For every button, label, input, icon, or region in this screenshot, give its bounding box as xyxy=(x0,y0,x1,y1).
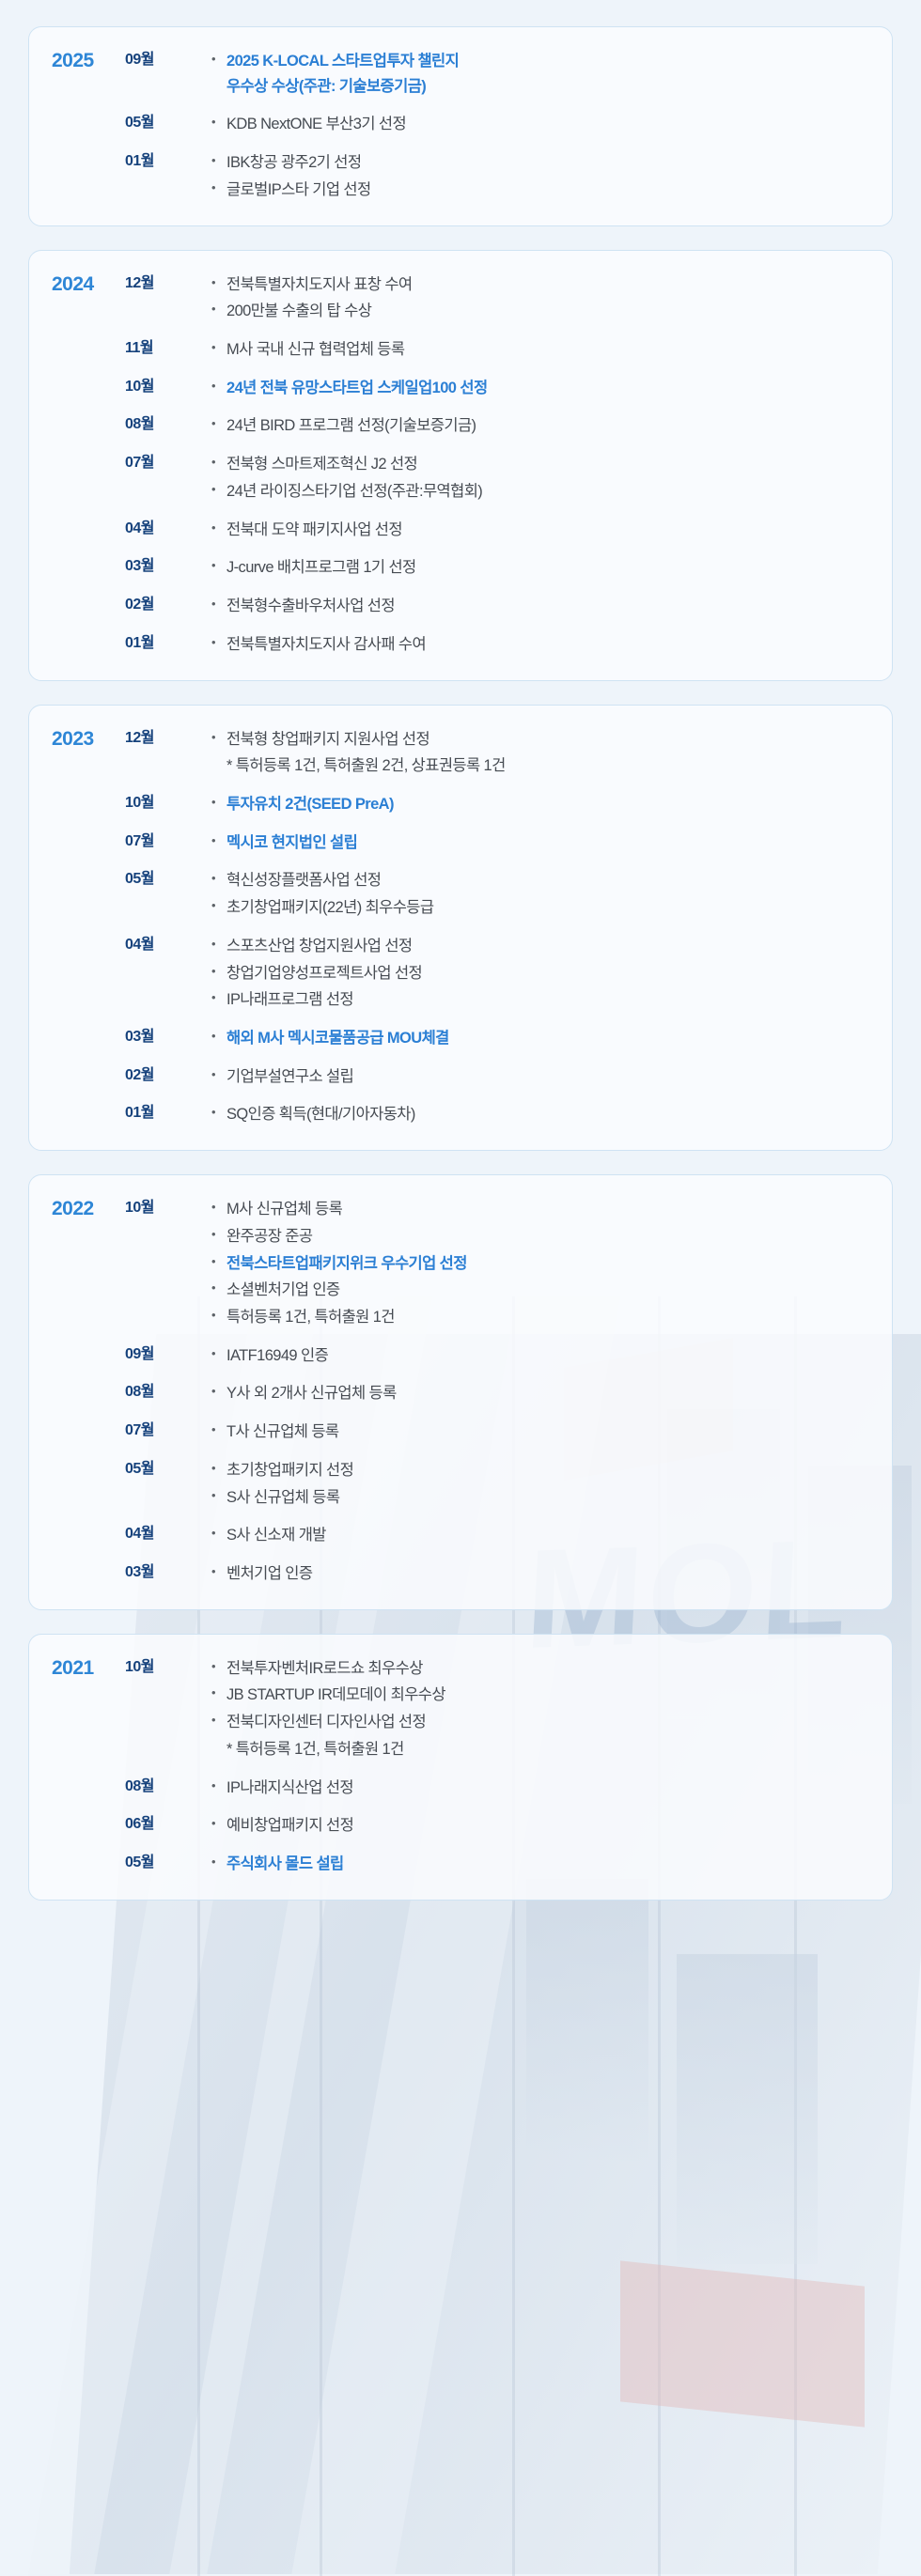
event-list: •M사 국내 신규 협력업체 등록 xyxy=(211,336,869,363)
month-row: 04월•스포츠산업 창업지원사업 선정•창업기업양성프로젝트사업 선정•IP나래… xyxy=(125,933,869,1013)
bullet-icon: • xyxy=(211,1026,226,1046)
event-list: •전북특별자치도지사 감사패 수여 xyxy=(211,631,869,658)
month-row: 02월•기업부설연구소 설립 xyxy=(125,1063,869,1090)
month-label: 12월 xyxy=(125,726,211,751)
bullet-icon: • xyxy=(211,1251,226,1271)
year-card: 202412월•전북특별자치도지사 표창 수여•200만불 수출의 탑 수상11… xyxy=(28,250,893,681)
year-card: 202210월•M사 신규업체 등록•완주공장 준공•전북스타트업패키지위크 우… xyxy=(28,1174,893,1610)
month-row: 12월•전북특별자치도지사 표창 수여•200만불 수출의 탑 수상 xyxy=(125,272,869,324)
event-list: •전북대 도약 패키지사업 선정 xyxy=(211,517,869,543)
month-label: 03월 xyxy=(125,1560,211,1585)
event-text: T사 신규업체 등록 xyxy=(226,1420,869,1445)
month-label: 09월 xyxy=(125,48,211,72)
bullet-icon: • xyxy=(211,632,226,652)
month-label: 09월 xyxy=(125,1342,211,1367)
year-label: 2023 xyxy=(52,726,125,752)
month-list: 10월•M사 신규업체 등록•완주공장 준공•전북스타트업패키지위크 우수기업 … xyxy=(125,1196,869,1587)
bullet-icon: • xyxy=(211,1305,226,1325)
event-text: 해외 M사 멕시코물품공급 MOU체결 xyxy=(226,1026,869,1051)
bullet-icon: • xyxy=(211,1523,226,1543)
bullet-icon: • xyxy=(211,452,226,472)
month-label: 10월 xyxy=(125,791,211,815)
bullet-icon: • xyxy=(211,895,226,915)
event-list: •멕시코 현지법인 설립 xyxy=(211,830,869,856)
event-text: 벤처기업 인증 xyxy=(226,1561,869,1587)
event-text: * 특허등록 1건, 특허출원 2건, 상표권등록 1건 xyxy=(226,753,869,779)
year-card: 202509월•2025 K-LOCAL 스타트업투자 챌린지 우수상 수상(주… xyxy=(28,26,893,226)
month-row: 01월•IBK창공 광주2기 선정•글로벌IP스타 기업 선정 xyxy=(125,149,869,202)
bullet-icon: • xyxy=(211,479,226,499)
event-text: 전북형 스마트제조혁신 J2 선정 xyxy=(226,452,869,477)
event-item: •전북특별자치도지사 표창 수여 xyxy=(211,272,869,298)
month-label: 03월 xyxy=(125,1025,211,1049)
event-item-highlighted: •투자유치 2건(SEED PreA) xyxy=(211,792,869,817)
event-text: 혁신성장플랫폼사업 선정 xyxy=(226,868,869,893)
event-list: •SQ인증 획득(현대/기아자동차) xyxy=(211,1101,869,1127)
bullet-icon: • xyxy=(211,792,226,812)
company-history-timeline: 202509월•2025 K-LOCAL 스타트업투자 챌린지 우수상 수상(주… xyxy=(0,0,921,1952)
event-text: 예비창업패키지 선정 xyxy=(226,1813,869,1839)
event-text: 멕시코 현지법인 설립 xyxy=(226,830,869,856)
event-item-highlighted: •24년 전북 유망스타트업 스케일업100 선정 xyxy=(211,376,869,401)
event-list: •2025 K-LOCAL 스타트업투자 챌린지 우수상 수상(주관: 기술보증… xyxy=(211,48,869,99)
event-text: 창업기업양성프로젝트사업 선정 xyxy=(226,961,869,986)
bullet-icon: • xyxy=(211,1485,226,1505)
year-card: 202312월•전북형 창업패키지 지원사업 선정•* 특허등록 1건, 특허출… xyxy=(28,705,893,1152)
event-list: •주식회사 몰드 설립 xyxy=(211,1851,869,1877)
bullet-icon: • xyxy=(211,1813,226,1833)
event-text: IP나래지식산업 선정 xyxy=(226,1776,869,1801)
year-label: 2024 xyxy=(52,272,125,297)
event-item: •S사 신규업체 등록 xyxy=(211,1485,869,1511)
bullet-icon: • xyxy=(211,518,226,537)
month-row: 05월•KDB NextONE 부산3기 선정 xyxy=(125,111,869,137)
bullet-icon: • xyxy=(211,150,226,170)
month-label: 04월 xyxy=(125,933,211,957)
month-row: 06월•예비창업패키지 선정 xyxy=(125,1812,869,1839)
bullet-icon: • xyxy=(211,1458,226,1478)
event-list: •IATF16949 인증 xyxy=(211,1342,869,1369)
bullet-icon: • xyxy=(211,961,226,981)
event-item: •창업기업양성프로젝트사업 선정 xyxy=(211,961,869,986)
event-text: Y사 외 2개사 신규업체 등록 xyxy=(226,1381,869,1406)
month-label: 03월 xyxy=(125,554,211,579)
event-item: •IBK창공 광주2기 선정 xyxy=(211,150,869,176)
bullet-icon: • xyxy=(211,555,226,575)
event-text: 전북형수출바우처사업 선정 xyxy=(226,594,869,619)
month-row: 05월•혁신성장플랫폼사업 선정•초기창업패키지(22년) 최우수등급 xyxy=(125,867,869,920)
month-label: 11월 xyxy=(125,336,211,361)
month-row: 07월•T사 신규업체 등록 xyxy=(125,1419,869,1445)
event-list: •초기창업패키지 선정•S사 신규업체 등록 xyxy=(211,1457,869,1510)
year-label: 2022 xyxy=(52,1196,125,1221)
bullet-icon: • xyxy=(211,112,226,132)
month-label: 10월 xyxy=(125,375,211,399)
event-item-highlighted: •2025 K-LOCAL 스타트업투자 챌린지 우수상 수상(주관: 기술보증… xyxy=(211,49,869,99)
event-item: •전북형 스마트제조혁신 J2 선정 xyxy=(211,452,869,477)
month-row: 05월•초기창업패키지 선정•S사 신규업체 등록 xyxy=(125,1457,869,1510)
event-item: •완주공장 준공 xyxy=(211,1224,869,1249)
event-list: •전북형 스마트제조혁신 J2 선정•24년 라이징스타기업 선정(주관:무역협… xyxy=(211,451,869,504)
event-text: IBK창공 광주2기 선정 xyxy=(226,150,869,176)
month-label: 04월 xyxy=(125,517,211,541)
bullet-icon: • xyxy=(211,1776,226,1795)
bullet-icon: • xyxy=(211,830,226,850)
month-label: 08월 xyxy=(125,1775,211,1799)
bullet-icon: • xyxy=(211,987,226,1007)
event-list: •투자유치 2건(SEED PreA) xyxy=(211,791,869,817)
event-text: M사 신규업체 등록 xyxy=(226,1197,869,1222)
bullet-icon: • xyxy=(211,727,226,747)
month-row: 04월•S사 신소재 개발 xyxy=(125,1522,869,1548)
month-row: 10월•M사 신규업체 등록•완주공장 준공•전북스타트업패키지위크 우수기업 … xyxy=(125,1196,869,1330)
event-text: 완주공장 준공 xyxy=(226,1224,869,1249)
event-text: 전북투자벤처IR로드쇼 최우수상 xyxy=(226,1656,869,1682)
event-list: •전북형수출바우처사업 선정 xyxy=(211,593,869,619)
event-note: •* 특허등록 1건, 특허출원 1건 xyxy=(211,1737,869,1762)
month-label: 04월 xyxy=(125,1522,211,1546)
month-label: 07월 xyxy=(125,830,211,854)
event-text: 투자유치 2건(SEED PreA) xyxy=(226,792,869,817)
event-item: •초기창업패키지(22년) 최우수등급 xyxy=(211,895,869,921)
event-text: * 특허등록 1건, 특허출원 1건 xyxy=(226,1737,869,1762)
event-item: •특허등록 1건, 특허출원 1건 xyxy=(211,1305,869,1330)
month-label: 01월 xyxy=(125,631,211,656)
event-text: M사 국내 신규 협력업체 등록 xyxy=(226,337,869,363)
event-text: 2025 K-LOCAL 스타트업투자 챌린지 우수상 수상(주관: 기술보증기… xyxy=(226,49,869,99)
event-item: •200만불 수출의 탑 수상 xyxy=(211,299,869,324)
event-text: JB STARTUP IR데모데이 최우수상 xyxy=(226,1683,869,1708)
event-item-highlighted: •멕시코 현지법인 설립 xyxy=(211,830,869,856)
event-note: •* 특허등록 1건, 특허출원 2건, 상표권등록 1건 xyxy=(211,753,869,779)
month-label: 12월 xyxy=(125,272,211,296)
event-item: •스포츠산업 창업지원사업 선정 xyxy=(211,934,869,959)
event-text: 200만불 수출의 탑 수상 xyxy=(226,299,869,324)
event-item: •IP나래프로그램 선정 xyxy=(211,987,869,1013)
month-row: 01월•전북특별자치도지사 감사패 수여 xyxy=(125,631,869,658)
event-item: •벤처기업 인증 xyxy=(211,1561,869,1587)
event-item: •기업부설연구소 설립 xyxy=(211,1064,869,1090)
bullet-icon: • xyxy=(211,299,226,318)
month-row: 10월•24년 전북 유망스타트업 스케일업100 선정 xyxy=(125,375,869,401)
month-row: 08월•Y사 외 2개사 신규업체 등록 xyxy=(125,1380,869,1406)
month-label: 08월 xyxy=(125,1380,211,1404)
month-label: 05월 xyxy=(125,111,211,135)
month-label: 07월 xyxy=(125,1419,211,1443)
month-row: 09월•IATF16949 인증 xyxy=(125,1342,869,1369)
bullet-icon: • xyxy=(211,1420,226,1439)
bullet-icon: • xyxy=(211,1561,226,1581)
event-list: •S사 신소재 개발 xyxy=(211,1522,869,1548)
month-row: 07월•전북형 스마트제조혁신 J2 선정•24년 라이징스타기업 선정(주관:… xyxy=(125,451,869,504)
event-item: •글로벌IP스타 기업 선정 xyxy=(211,178,869,203)
month-label: 07월 xyxy=(125,451,211,475)
event-item: •J-curve 배치프로그램 1기 선정 xyxy=(211,555,869,581)
month-label: 05월 xyxy=(125,1851,211,1875)
event-text: J-curve 배치프로그램 1기 선정 xyxy=(226,555,869,581)
month-list: 12월•전북형 창업패키지 지원사업 선정•* 특허등록 1건, 특허출원 2건… xyxy=(125,726,869,1128)
bullet-icon: • xyxy=(211,1064,226,1084)
event-item: •KDB NextONE 부산3기 선정 xyxy=(211,112,869,137)
event-item-highlighted: •해외 M사 멕시코물품공급 MOU체결 xyxy=(211,1026,869,1051)
event-item: •S사 신소재 개발 xyxy=(211,1523,869,1548)
event-list: •J-curve 배치프로그램 1기 선정 xyxy=(211,554,869,581)
month-label: 05월 xyxy=(125,867,211,892)
bullet-icon: • xyxy=(211,1278,226,1297)
bullet-icon: • xyxy=(211,868,226,888)
event-text: IP나래프로그램 선정 xyxy=(226,987,869,1013)
event-item: •전북특별자치도지사 감사패 수여 xyxy=(211,632,869,658)
bullet-icon: • xyxy=(211,934,226,954)
year-label: 2021 xyxy=(52,1655,125,1681)
bullet-icon: • xyxy=(211,1381,226,1401)
event-text: 24년 전북 유망스타트업 스케일업100 선정 xyxy=(226,376,869,401)
month-list: 12월•전북특별자치도지사 표창 수여•200만불 수출의 탑 수상11월•M사… xyxy=(125,272,869,658)
event-list: •혁신성장플랫폼사업 선정•초기창업패키지(22년) 최우수등급 xyxy=(211,867,869,920)
month-label: 01월 xyxy=(125,149,211,174)
event-item-highlighted: •전북스타트업패키지위크 우수기업 선정 xyxy=(211,1251,869,1277)
bullet-icon: • xyxy=(211,376,226,396)
bullet-icon: • xyxy=(211,413,226,433)
event-list: •24년 전북 유망스타트업 스케일업100 선정 xyxy=(211,375,869,401)
month-row: 03월•J-curve 배치프로그램 1기 선정 xyxy=(125,554,869,581)
event-item-highlighted: •주식회사 몰드 설립 xyxy=(211,1852,869,1877)
event-list: •기업부설연구소 설립 xyxy=(211,1063,869,1090)
event-list: •전북특별자치도지사 표창 수여•200만불 수출의 탑 수상 xyxy=(211,272,869,324)
month-label: 02월 xyxy=(125,593,211,617)
month-row: 08월•24년 BIRD 프로그램 선정(기술보증기금) xyxy=(125,412,869,439)
event-list: •IP나래지식산업 선정 xyxy=(211,1775,869,1801)
event-text: 전북특별자치도지사 감사패 수여 xyxy=(226,632,869,658)
event-text: KDB NextONE 부산3기 선정 xyxy=(226,112,869,137)
event-list: •스포츠산업 창업지원사업 선정•창업기업양성프로젝트사업 선정•IP나래프로그… xyxy=(211,933,869,1013)
month-row: 04월•전북대 도약 패키지사업 선정 xyxy=(125,517,869,543)
bullet-icon: • xyxy=(211,1656,226,1676)
month-list: 10월•전북투자벤처IR로드쇼 최우수상•JB STARTUP IR데모데이 최… xyxy=(125,1655,869,1877)
month-label: 01월 xyxy=(125,1101,211,1125)
month-row: 02월•전북형수출바우처사업 선정 xyxy=(125,593,869,619)
event-list: •IBK창공 광주2기 선정•글로벌IP스타 기업 선정 xyxy=(211,149,869,202)
month-row: 07월•멕시코 현지법인 설립 xyxy=(125,830,869,856)
event-item: •전북투자벤처IR로드쇼 최우수상 xyxy=(211,1656,869,1682)
month-row: 03월•해외 M사 멕시코물품공급 MOU체결 xyxy=(125,1025,869,1051)
month-row: 10월•투자유치 2건(SEED PreA) xyxy=(125,791,869,817)
bullet-icon: • xyxy=(211,178,226,197)
event-text: 소셜벤처기업 인증 xyxy=(226,1278,869,1303)
event-item: •전북대 도약 패키지사업 선정 xyxy=(211,518,869,543)
bullet-icon: • xyxy=(211,1852,226,1871)
event-item: •M사 국내 신규 협력업체 등록 xyxy=(211,337,869,363)
month-row: 09월•2025 K-LOCAL 스타트업투자 챌린지 우수상 수상(주관: 기… xyxy=(125,48,869,99)
event-text: 전북특별자치도지사 표창 수여 xyxy=(226,272,869,298)
event-item: •IP나래지식산업 선정 xyxy=(211,1776,869,1801)
bullet-icon: • xyxy=(211,1197,226,1217)
event-text: 24년 BIRD 프로그램 선정(기술보증기금) xyxy=(226,413,869,439)
event-item: •24년 라이징스타기업 선정(주관:무역협회) xyxy=(211,479,869,504)
event-text: 주식회사 몰드 설립 xyxy=(226,1852,869,1877)
bullet-icon: • xyxy=(211,337,226,357)
event-list: •24년 BIRD 프로그램 선정(기술보증기금) xyxy=(211,412,869,439)
bullet-icon: • xyxy=(211,49,226,69)
month-row: 05월•주식회사 몰드 설립 xyxy=(125,1851,869,1877)
event-text: SQ인증 획득(현대/기아자동차) xyxy=(226,1102,869,1127)
bullet-icon: • xyxy=(211,594,226,613)
month-row: 03월•벤처기업 인증 xyxy=(125,1560,869,1587)
event-text: 스포츠산업 창업지원사업 선정 xyxy=(226,934,869,959)
bullet-icon: • xyxy=(211,1343,226,1363)
event-text: 전북형 창업패키지 지원사업 선정 xyxy=(226,727,869,753)
event-text: 초기창업패키지 선정 xyxy=(226,1458,869,1483)
event-text: 전북스타트업패키지위크 우수기업 선정 xyxy=(226,1251,869,1277)
event-text: 전북대 도약 패키지사업 선정 xyxy=(226,518,869,543)
bullet-icon: • xyxy=(211,1102,226,1122)
bullet-icon: • xyxy=(211,1710,226,1730)
month-row: 01월•SQ인증 획득(현대/기아자동차) xyxy=(125,1101,869,1127)
event-list: •Y사 외 2개사 신규업체 등록 xyxy=(211,1380,869,1406)
month-label: 05월 xyxy=(125,1457,211,1482)
event-text: S사 신소재 개발 xyxy=(226,1523,869,1548)
event-text: IATF16949 인증 xyxy=(226,1343,869,1369)
month-row: 08월•IP나래지식산업 선정 xyxy=(125,1775,869,1801)
event-text: 글로벌IP스타 기업 선정 xyxy=(226,178,869,203)
event-item: •혁신성장플랫폼사업 선정 xyxy=(211,868,869,893)
event-item: •Y사 외 2개사 신규업체 등록 xyxy=(211,1381,869,1406)
event-item: •SQ인증 획득(현대/기아자동차) xyxy=(211,1102,869,1127)
event-item: •소셜벤처기업 인증 xyxy=(211,1278,869,1303)
event-item: •M사 신규업체 등록 xyxy=(211,1197,869,1222)
month-row: 12월•전북형 창업패키지 지원사업 선정•* 특허등록 1건, 특허출원 2건… xyxy=(125,726,869,779)
year-label: 2025 xyxy=(52,48,125,73)
month-label: 08월 xyxy=(125,412,211,437)
month-label: 02월 xyxy=(125,1063,211,1088)
event-text: S사 신규업체 등록 xyxy=(226,1485,869,1511)
event-item: •24년 BIRD 프로그램 선정(기술보증기금) xyxy=(211,413,869,439)
event-text: 24년 라이징스타기업 선정(주관:무역협회) xyxy=(226,479,869,504)
event-list: •예비창업패키지 선정 xyxy=(211,1812,869,1839)
event-list: •T사 신규업체 등록 xyxy=(211,1419,869,1445)
month-list: 09월•2025 K-LOCAL 스타트업투자 챌린지 우수상 수상(주관: 기… xyxy=(125,48,869,203)
event-item: •초기창업패키지 선정 xyxy=(211,1458,869,1483)
event-item: •예비창업패키지 선정 xyxy=(211,1813,869,1839)
event-item: •전북형수출바우처사업 선정 xyxy=(211,594,869,619)
month-row: 10월•전북투자벤처IR로드쇼 최우수상•JB STARTUP IR데모데이 최… xyxy=(125,1655,869,1762)
event-list: •KDB NextONE 부산3기 선정 xyxy=(211,111,869,137)
event-item: •JB STARTUP IR데모데이 최우수상 xyxy=(211,1683,869,1708)
bullet-icon: • xyxy=(211,272,226,292)
event-list: •해외 M사 멕시코물품공급 MOU체결 xyxy=(211,1025,869,1051)
month-row: 11월•M사 국내 신규 협력업체 등록 xyxy=(125,336,869,363)
event-item: •전북형 창업패키지 지원사업 선정 xyxy=(211,727,869,753)
year-card: 202110월•전북투자벤처IR로드쇼 최우수상•JB STARTUP IR데모… xyxy=(28,1634,893,1901)
event-item: •전북디자인센터 디자인사업 선정 xyxy=(211,1710,869,1735)
month-label: 06월 xyxy=(125,1812,211,1837)
event-item: •T사 신규업체 등록 xyxy=(211,1420,869,1445)
event-text: 기업부설연구소 설립 xyxy=(226,1064,869,1090)
bullet-icon: • xyxy=(211,1683,226,1702)
event-text: 초기창업패키지(22년) 최우수등급 xyxy=(226,895,869,921)
event-item: •IATF16949 인증 xyxy=(211,1343,869,1369)
event-text: 특허등록 1건, 특허출원 1건 xyxy=(226,1305,869,1330)
month-label: 10월 xyxy=(125,1655,211,1680)
event-list: •M사 신규업체 등록•완주공장 준공•전북스타트업패키지위크 우수기업 선정•… xyxy=(211,1196,869,1330)
event-list: •전북형 창업패키지 지원사업 선정•* 특허등록 1건, 특허출원 2건, 상… xyxy=(211,726,869,779)
event-list: •벤처기업 인증 xyxy=(211,1560,869,1587)
month-label: 10월 xyxy=(125,1196,211,1220)
event-list: •전북투자벤처IR로드쇼 최우수상•JB STARTUP IR데모데이 최우수상… xyxy=(211,1655,869,1762)
event-text: 전북디자인센터 디자인사업 선정 xyxy=(226,1710,869,1735)
bullet-icon: • xyxy=(211,1224,226,1244)
